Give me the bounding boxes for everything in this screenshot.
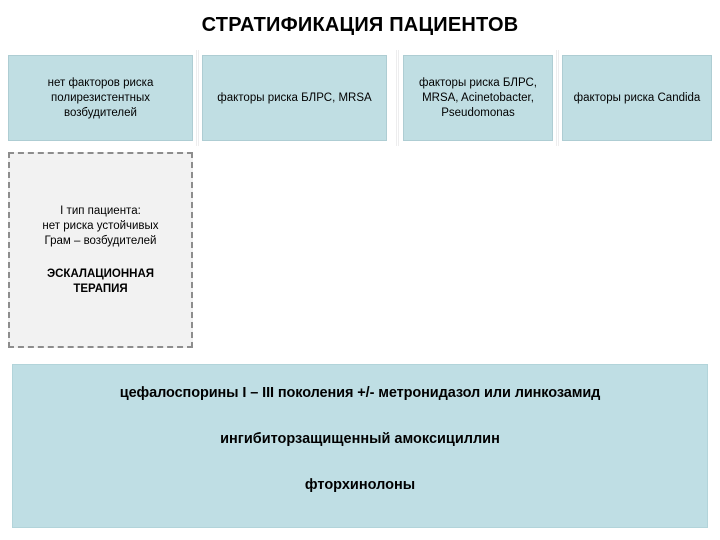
regimen-line-fluoroquinolones: фторхинолоны — [23, 475, 697, 495]
column-separator — [396, 50, 397, 146]
risk-box-no-risk-factors[interactable]: нет факторов риска полирезистентных возб… — [8, 55, 193, 141]
column-separator — [198, 50, 199, 146]
patient-type-description: I тип пациента: нет риска устойчивых Гра… — [42, 204, 158, 249]
patient-type-therapy-label: ЭСКАЛАЦИОННАЯ ТЕРАПИЯ — [47, 267, 154, 297]
risk-box-esbl-mrsa[interactable]: факторы риска БЛРС, MRSA — [202, 55, 387, 141]
regimen-line-cephalosporins: цефалоспорины I – III поколения +/- метр… — [23, 383, 697, 403]
risk-box-label: факторы риска БЛРС, MRSA — [209, 91, 380, 106]
column-separator — [196, 50, 197, 146]
risk-box-esbl-mrsa-acinetobacter-pseudomonas[interactable]: факторы риска БЛРС, MRSA, Acinetobacter,… — [403, 55, 553, 141]
risk-box-label: факторы риска БЛРС, MRSA, Acinetobacter,… — [410, 76, 546, 121]
risk-box-label: нет факторов риска полирезистентных возб… — [15, 76, 186, 121]
patient-type-panel[interactable]: I тип пациента: нет риска устойчивых Гра… — [8, 152, 193, 348]
risk-category-row: нет факторов риска полирезистентных возб… — [0, 55, 720, 141]
therapy-regimen-panel[interactable]: цефалоспорины I – III поколения +/- метр… — [12, 364, 708, 528]
column-separator — [398, 50, 399, 146]
risk-box-candida[interactable]: факторы риска Candida — [562, 55, 712, 141]
column-separator — [558, 50, 559, 146]
regimen-line-amoxicillin: ингибиторзащищенный амоксициллин — [23, 429, 697, 449]
risk-box-label: факторы риска Candida — [569, 91, 705, 106]
column-separator — [556, 50, 557, 146]
page-title: СТРАТИФИКАЦИЯ ПАЦИЕНТОВ — [0, 12, 720, 38]
